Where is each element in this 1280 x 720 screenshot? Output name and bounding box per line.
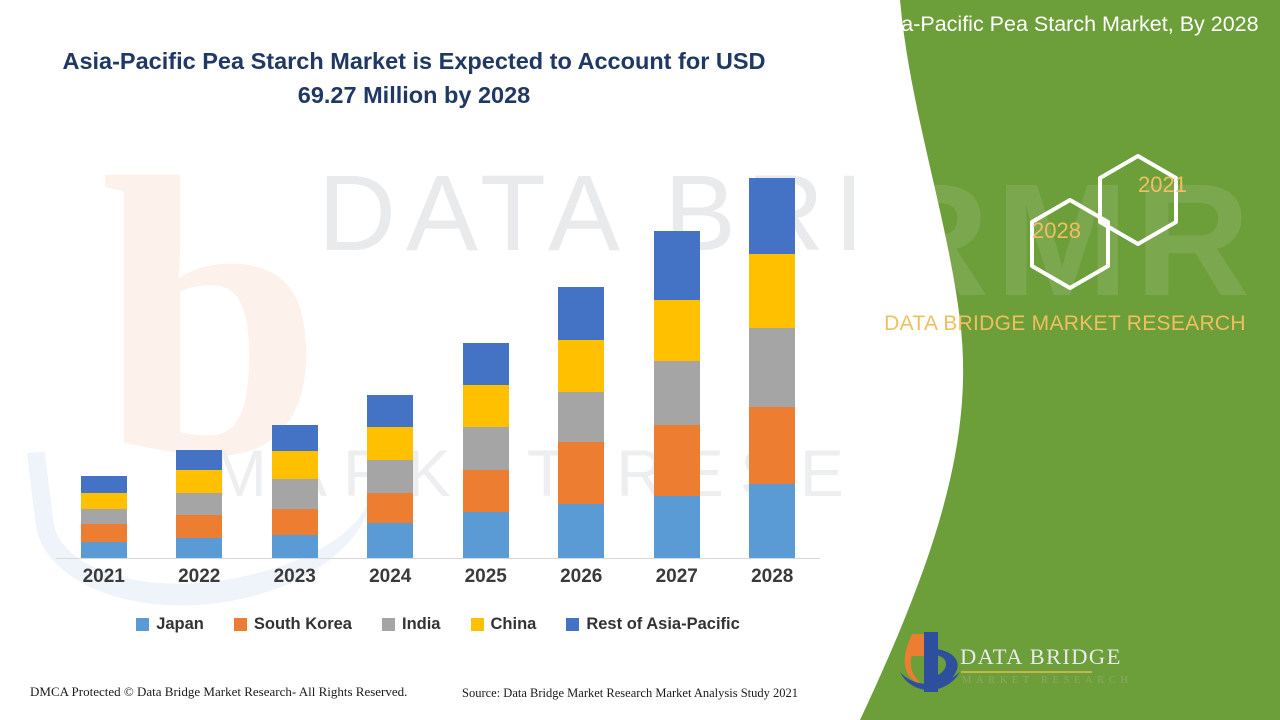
- bar-group-2026: [534, 150, 630, 558]
- legend-item[interactable]: China: [471, 615, 537, 634]
- bar-segment[interactable]: [81, 509, 127, 524]
- bar-segment[interactable]: [463, 512, 509, 558]
- panel-background-shape: [840, 0, 1280, 720]
- stacked-bar[interactable]: [176, 450, 222, 558]
- bar-segment[interactable]: [749, 328, 795, 408]
- panel-brand-line1: DATA BRIDGE MARKET: [884, 312, 1120, 335]
- bar-segment[interactable]: [367, 493, 413, 524]
- x-axis-labels: 20212022202320242025202620272028: [56, 566, 820, 588]
- stacked-bar[interactable]: [81, 476, 127, 558]
- bar-segment[interactable]: [81, 524, 127, 541]
- panel-brand-name: DATA BRIDGE MARKET RESEARCH: [860, 308, 1270, 340]
- stacked-bar[interactable]: [272, 425, 318, 558]
- bar-segment[interactable]: [81, 542, 127, 558]
- legend-label: Rest of Asia-Pacific: [586, 615, 739, 634]
- logo-wordmark: DATA BRIDGE: [960, 644, 1122, 670]
- bar-segment[interactable]: [654, 425, 700, 495]
- bar-segment[interactable]: [272, 479, 318, 509]
- bar-segment[interactable]: [176, 538, 222, 558]
- hexagon-shapes-icon: [970, 150, 1250, 330]
- legend-swatch-icon: [382, 618, 395, 631]
- legend-item[interactable]: India: [382, 615, 441, 634]
- infographic-canvas: b DATA BRIDGE MARKET RESEARCH Asia-Pacif…: [0, 0, 1280, 720]
- chart-title-line1: Asia-Pacific Pea Starch Market is Expect…: [62, 48, 765, 74]
- bar-group-2023: [247, 150, 343, 558]
- legend-label: South Korea: [254, 615, 352, 634]
- legend-swatch-icon: [136, 618, 149, 631]
- stacked-bar[interactable]: [463, 343, 509, 558]
- chart-plot-area: [56, 150, 820, 559]
- stacked-bar[interactable]: [654, 231, 700, 558]
- x-axis-label-2024: 2024: [343, 566, 439, 588]
- bar-segment[interactable]: [463, 470, 509, 512]
- bar-segment[interactable]: [749, 484, 795, 558]
- chart-title-line2: 69.27 Million by 2028: [298, 82, 531, 108]
- panel-brand-line2: RESEARCH: [1127, 312, 1246, 335]
- hexagon-2028-outline: [1032, 200, 1108, 288]
- stacked-bar[interactable]: [367, 395, 413, 558]
- x-axis-label-2025: 2025: [438, 566, 534, 588]
- x-axis-label-2023: 2023: [247, 566, 343, 588]
- bar-segment[interactable]: [558, 340, 604, 392]
- bar-segment[interactable]: [654, 361, 700, 425]
- bar-segment[interactable]: [558, 442, 604, 504]
- bar-segment[interactable]: [654, 300, 700, 361]
- legend-swatch-icon: [566, 618, 579, 631]
- hexagon-2021-outline: [1100, 156, 1176, 244]
- bar-segment[interactable]: [272, 451, 318, 480]
- panel-title-line2: By 2028: [1180, 12, 1259, 36]
- bar-segment[interactable]: [272, 535, 318, 558]
- bar-segment[interactable]: [81, 476, 127, 492]
- logo-rule: [961, 671, 1092, 673]
- x-axis-label-2027: 2027: [629, 566, 725, 588]
- bar-segment[interactable]: [272, 509, 318, 535]
- bar-segment[interactable]: [176, 493, 222, 515]
- bar-segment[interactable]: [463, 427, 509, 470]
- bar-group-2028: [725, 150, 821, 558]
- bar-segment[interactable]: [749, 407, 795, 484]
- bar-segment[interactable]: [463, 343, 509, 385]
- legend-label: Japan: [156, 615, 204, 634]
- bar-series-container: [56, 150, 820, 558]
- legend-item[interactable]: South Korea: [234, 615, 352, 634]
- bar-segment[interactable]: [558, 287, 604, 340]
- hexagon-2021-label: 2021: [1138, 172, 1187, 198]
- x-axis-label-2022: 2022: [152, 566, 248, 588]
- legend-item[interactable]: Rest of Asia-Pacific: [566, 615, 739, 634]
- bar-group-2021: [56, 150, 152, 558]
- hexagon-2028-label: 2028: [1032, 218, 1081, 244]
- bar-segment[interactable]: [367, 460, 413, 493]
- chart-title: Asia-Pacific Pea Starch Market is Expect…: [44, 44, 784, 112]
- stacked-bar[interactable]: [558, 287, 604, 558]
- bar-segment[interactable]: [654, 231, 700, 300]
- bar-segment[interactable]: [367, 523, 413, 558]
- bar-segment[interactable]: [654, 496, 700, 558]
- bar-segment[interactable]: [558, 392, 604, 442]
- bar-group-2022: [152, 150, 248, 558]
- bar-segment[interactable]: [176, 450, 222, 470]
- x-axis-label-2021: 2021: [56, 566, 152, 588]
- chart-legend: JapanSouth KoreaIndiaChinaRest of Asia-P…: [56, 615, 820, 634]
- x-axis-line: [56, 558, 820, 559]
- green-side-panel: RMR Asia-Pacific Pea Starch Market, By 2…: [840, 0, 1280, 720]
- legend-label: China: [491, 615, 537, 634]
- stacked-bar[interactable]: [749, 178, 795, 558]
- legend-label: India: [402, 615, 441, 634]
- x-axis-label-2026: 2026: [534, 566, 630, 588]
- logo-subtitle: MARKET RESEARCH: [962, 675, 1133, 686]
- legend-swatch-icon: [471, 618, 484, 631]
- bar-group-2027: [629, 150, 725, 558]
- source-note: Source: Data Bridge Market Research Mark…: [462, 686, 798, 701]
- legend-swatch-icon: [234, 618, 247, 631]
- bar-group-2024: [343, 150, 439, 558]
- bar-segment[interactable]: [558, 504, 604, 558]
- panel-title: Asia-Pacific Pea Starch Market, By 2028: [870, 8, 1260, 41]
- bar-segment[interactable]: [176, 515, 222, 537]
- panel-title-line1: Asia-Pacific Pea Starch Market,: [871, 12, 1173, 36]
- bar-segment[interactable]: [367, 427, 413, 460]
- dmca-notice: DMCA Protected © Data Bridge Market Rese…: [30, 684, 407, 700]
- bar-group-2025: [438, 150, 534, 558]
- bar-segment[interactable]: [272, 425, 318, 451]
- bar-segment[interactable]: [367, 395, 413, 428]
- legend-item[interactable]: Japan: [136, 615, 204, 634]
- bar-segment[interactable]: [463, 385, 509, 428]
- bar-segment[interactable]: [749, 178, 795, 255]
- bar-segment[interactable]: [81, 493, 127, 509]
- x-axis-label-2028: 2028: [725, 566, 821, 588]
- bar-segment[interactable]: [176, 470, 222, 492]
- hexagon-group: 2021 2028: [970, 150, 1250, 330]
- bar-segment[interactable]: [749, 254, 795, 327]
